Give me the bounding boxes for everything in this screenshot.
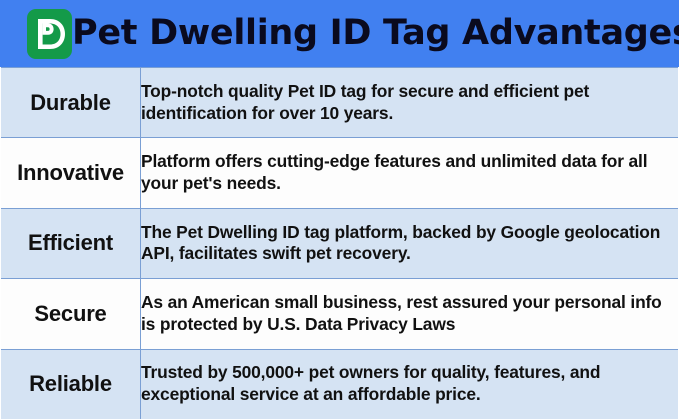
header-bar: Pet Dwelling ID Tag Advantages bbox=[0, 0, 679, 67]
table-row: Secure As an American small business, re… bbox=[1, 279, 679, 349]
pd-monogram-logo-icon bbox=[27, 9, 72, 59]
advantage-description: Top-notch quality Pet ID tag for secure … bbox=[141, 68, 679, 138]
page-title: Pet Dwelling ID Tag Advantages bbox=[72, 13, 679, 55]
table-row: Innovative Platform offers cutting-edge … bbox=[1, 138, 679, 208]
advantage-description: Trusted by 500,000+ pet owners for quali… bbox=[141, 349, 679, 419]
advantage-description: Platform offers cutting-edge features an… bbox=[141, 138, 679, 208]
table-row: Reliable Trusted by 500,000+ pet owners … bbox=[1, 349, 679, 419]
table-row: Efficient The Pet Dwelling ID tag platfo… bbox=[1, 208, 679, 278]
pet-dwelling-advantages-infographic: Pet Dwelling ID Tag Advantages Durable T… bbox=[0, 0, 679, 419]
advantage-label: Reliable bbox=[1, 349, 141, 419]
advantage-description: The Pet Dwelling ID tag platform, backed… bbox=[141, 208, 679, 278]
advantage-label: Efficient bbox=[1, 208, 141, 278]
advantage-label: Innovative bbox=[1, 138, 141, 208]
advantage-label: Durable bbox=[1, 68, 141, 138]
table-row: Durable Top-notch quality Pet ID tag for… bbox=[1, 68, 679, 138]
advantages-table: Durable Top-notch quality Pet ID tag for… bbox=[0, 67, 679, 419]
advantage-description: As an American small business, rest assu… bbox=[141, 279, 679, 349]
left-edge-margin bbox=[0, 67, 1, 419]
advantage-label: Secure bbox=[1, 279, 141, 349]
